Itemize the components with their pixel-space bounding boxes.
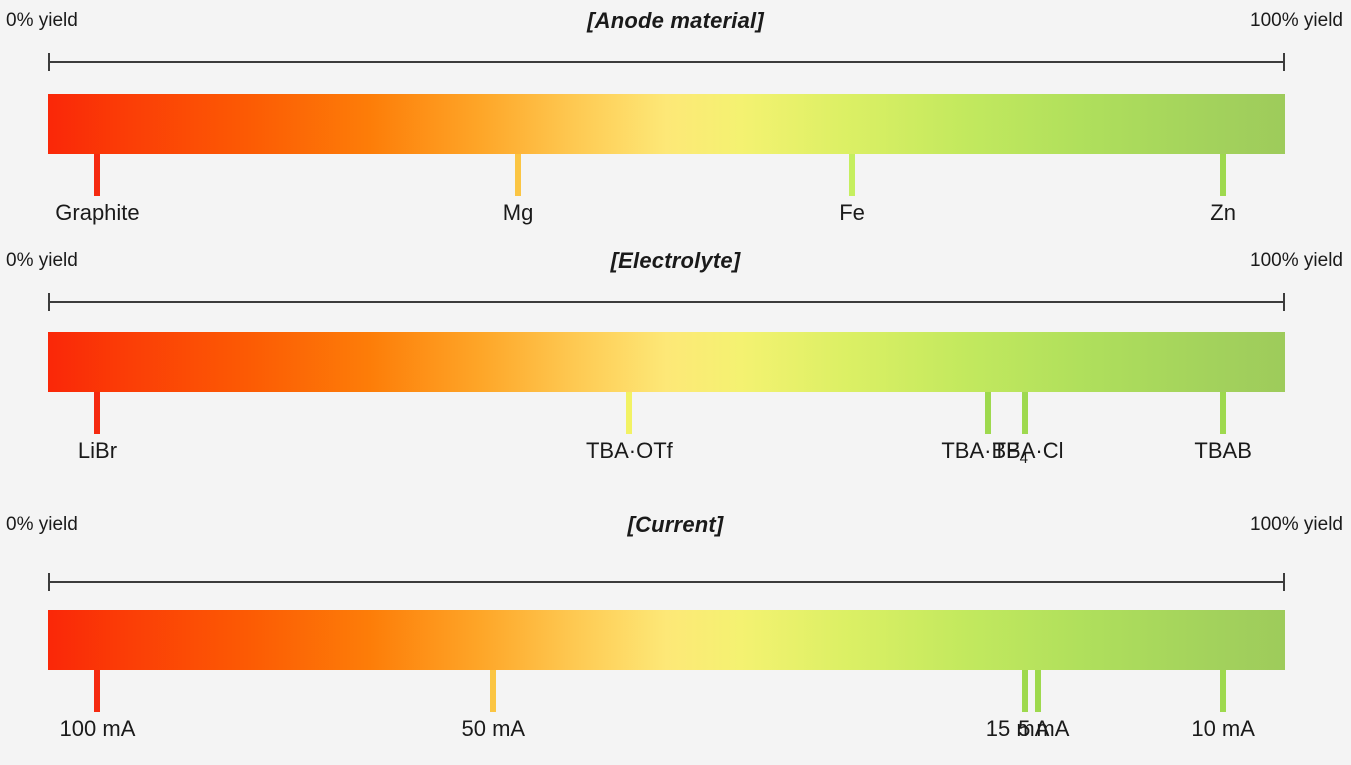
tick-mark[interactable]	[1035, 670, 1041, 712]
tick-mark[interactable]	[1220, 392, 1226, 434]
tick-mark[interactable]	[515, 154, 521, 196]
panel-1: 0% yield[Anode material]100% yield	[0, 8, 1351, 42]
panel-title: [Current]	[0, 510, 1351, 540]
tick-mark[interactable]	[1220, 154, 1226, 196]
tick-label: 5 mA	[1018, 714, 1069, 744]
axis-line	[48, 61, 1285, 63]
scale-axis	[48, 572, 1285, 592]
tick-label: Fe	[839, 198, 865, 228]
axis-cap-left	[48, 573, 50, 591]
yield-gradient-bar	[48, 332, 1285, 392]
panel-header: 0% yield[Anode material]100% yield	[0, 8, 1351, 42]
tick-mark[interactable]	[490, 670, 496, 712]
yield-max-label: 100% yield	[1250, 512, 1343, 538]
tick-label: LiBr	[78, 436, 117, 466]
tick-group: GraphiteMgFeZn	[48, 154, 1285, 249]
tick-label: 10 mA	[1191, 714, 1255, 744]
axis-cap-left	[48, 53, 50, 71]
gradient-fill	[48, 94, 1285, 154]
tick-label: TBA·OTf	[586, 436, 673, 466]
tick-label: TBA·Cl	[993, 436, 1064, 466]
tick-group: 100 mA50 mA15 mA5 mA10 mA	[48, 670, 1285, 765]
tick-mark[interactable]	[985, 392, 991, 434]
yield-gradient-bar	[48, 94, 1285, 154]
axis-line	[48, 581, 1285, 583]
tick-mark[interactable]	[1022, 392, 1028, 434]
scale-axis	[48, 292, 1285, 312]
tick-label: 50 mA	[462, 714, 526, 744]
panel-header: 0% yield[Electrolyte]100% yield	[0, 248, 1351, 282]
scale-axis	[48, 52, 1285, 72]
tick-mark[interactable]	[94, 154, 100, 196]
yield-gradient-bar	[48, 610, 1285, 670]
panel-3: 0% yield[Current]100% yield	[0, 512, 1351, 546]
gradient-fill	[48, 610, 1285, 670]
gradient-fill	[48, 332, 1285, 392]
tick-label: Mg	[503, 198, 534, 228]
panel-title: [Anode material]	[0, 6, 1351, 36]
tick-label: Graphite	[55, 198, 139, 228]
panel-title: [Electrolyte]	[0, 246, 1351, 276]
tick-mark[interactable]	[1022, 670, 1028, 712]
yield-max-label: 100% yield	[1250, 248, 1343, 274]
tick-mark[interactable]	[94, 670, 100, 712]
tick-label: Zn	[1210, 198, 1236, 228]
panel-2: 0% yield[Electrolyte]100% yield	[0, 248, 1351, 282]
axis-line	[48, 301, 1285, 303]
panel-header: 0% yield[Current]100% yield	[0, 512, 1351, 546]
tick-label: 100 mA	[60, 714, 136, 744]
tick-mark[interactable]	[94, 392, 100, 434]
axis-cap-right	[1283, 573, 1285, 591]
yield-max-label: 100% yield	[1250, 8, 1343, 34]
axis-cap-right	[1283, 293, 1285, 311]
axis-cap-right	[1283, 53, 1285, 71]
tick-label: TBAB	[1194, 436, 1251, 466]
tick-group: LiBrTBA·OTfTBA·BF4TBA·ClTBAB	[48, 392, 1285, 487]
tick-mark[interactable]	[849, 154, 855, 196]
tick-mark[interactable]	[1220, 670, 1226, 712]
axis-cap-left	[48, 293, 50, 311]
tick-mark[interactable]	[626, 392, 632, 434]
